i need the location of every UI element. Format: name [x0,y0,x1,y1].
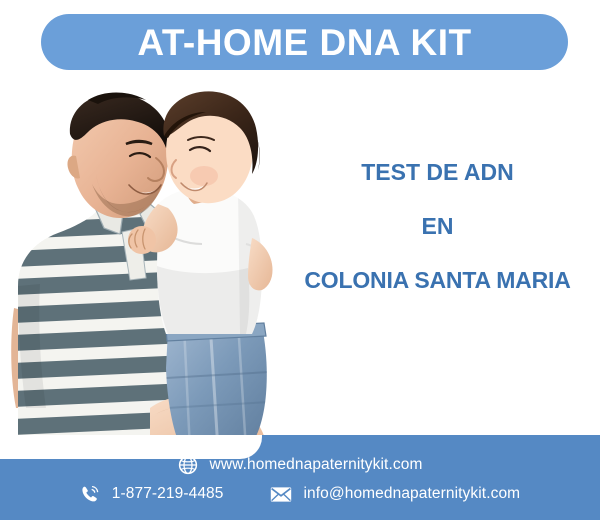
title-banner-text: AT-HOME DNA KIT [137,24,471,61]
heading-en: EN [285,214,590,238]
envelope-icon [270,486,292,503]
heading-location-name: COLONIA SANTA MARIA [285,268,590,292]
footer-contact-row: 1-877-219-4485 info@homednapaternitykit.… [0,484,600,504]
heading-test-de-adn: TEST DE ADN [285,160,590,184]
phone-icon [80,484,100,504]
email-label: info@homednapaternitykit.com [304,485,521,503]
phone-label: 1-877-219-4485 [112,485,224,503]
website-link[interactable]: www.homednapaternitykit.com [178,455,423,475]
location-headings: TEST DE ADN EN COLONIA SANTA MARIA [285,160,590,292]
title-banner: AT-HOME DNA KIT [41,14,568,70]
website-label: www.homednapaternitykit.com [210,456,423,474]
footer-website-row: www.homednapaternitykit.com [0,455,600,475]
phone-link[interactable]: 1-877-219-4485 [80,484,224,504]
father-and-child-photo [0,78,300,453]
email-link[interactable]: info@homednapaternitykit.com [270,485,521,503]
flyer-canvas: AT-HOME DNA KIT [0,0,600,520]
globe-icon [178,455,198,475]
